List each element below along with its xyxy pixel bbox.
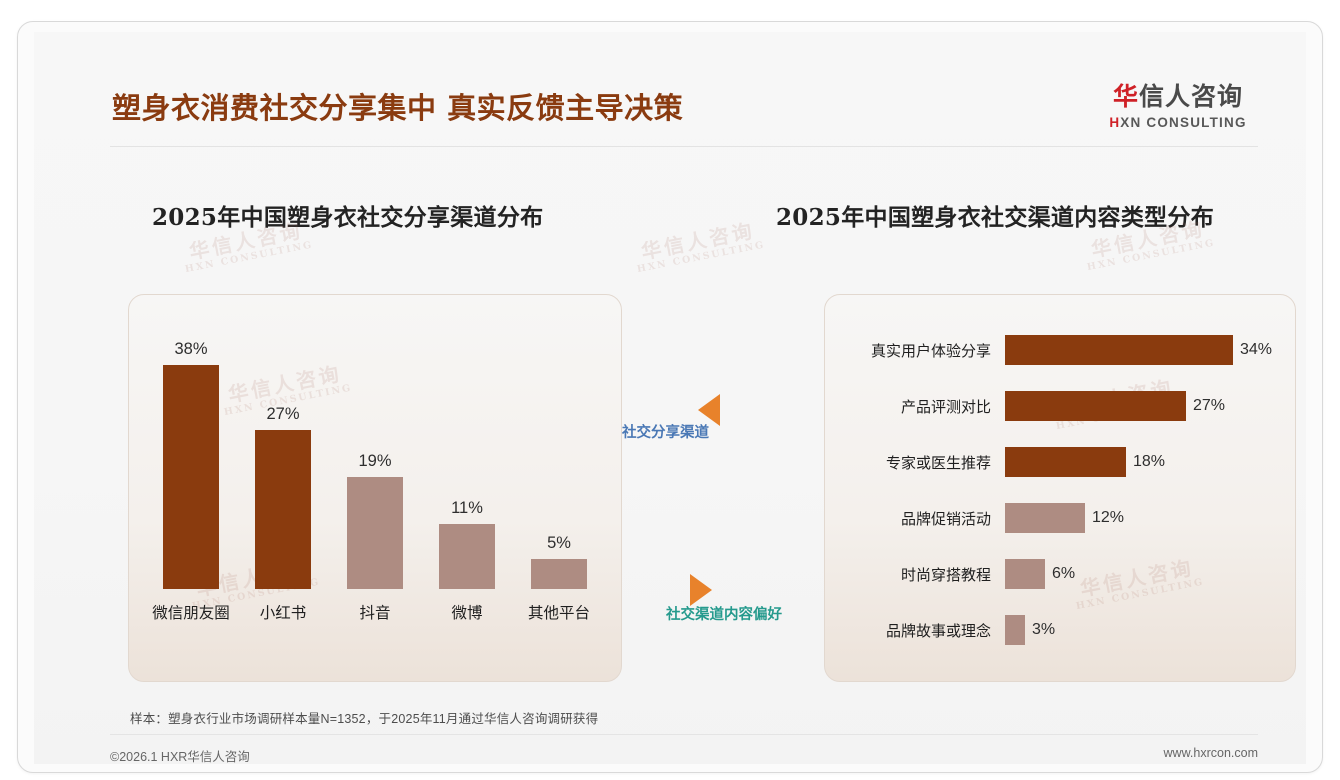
bar-value-label: 5% [547,535,571,552]
logo-chinese-text: 华信人咨询 [1098,84,1258,109]
triangle-left-icon [698,394,720,426]
bar-value-label: 18% [1133,453,1165,471]
bar-track: 34% [1005,333,1285,367]
chart-card-right: 华信人咨询 HXN CONSULTING 华信人咨询 HXN CONSULTIN… [824,294,1296,682]
bar-column: 38% [163,341,219,590]
bar-rect [531,559,587,589]
logo-cn-accent-char: 华 [1113,82,1139,111]
slide-header: 塑身衣消费社交分享集中 真实反馈主导决策 华信人咨询 HXN CONSULTIN… [34,32,1306,148]
bar-column: 19% [347,453,403,590]
bar-category-label: 专家或医生推荐 [847,452,1005,473]
bar-track: 3% [1005,613,1285,647]
bar-row: 时尚穿搭教程6% [847,557,1285,591]
bar-value-label: 27% [1193,397,1225,415]
bar-value-label: 34% [1240,341,1272,359]
logo-english-text: HXN CONSULTING [1098,116,1258,130]
bar-rect [1005,335,1233,365]
triangle-right-icon [690,574,712,606]
bar-category-label: 抖音 [325,601,425,623]
annotation-bottom-label: 社交渠道内容偏好 [666,608,782,623]
annotation-top-label: 社交分享渠道 [622,426,709,441]
bar-category-label: 产品评测对比 [847,396,1005,417]
company-logo: 华信人咨询 HXN CONSULTING [1098,84,1258,130]
bar-track: 18% [1005,445,1285,479]
bar-column: 11% [439,500,495,590]
bar-rect [1005,615,1025,645]
chart-card-left: 华信人咨询 HXN CONSULTING 华信人咨询 HXN CONSULTIN… [128,294,622,682]
horizontal-bar-chart: 真实用户体验分享34%产品评测对比27%专家或医生推荐18%品牌促销活动12%时… [825,295,1295,681]
bar-category-label: 品牌促销活动 [847,508,1005,529]
footer-divider [110,734,1258,735]
chart-title-right: 2025年中国塑身衣社交渠道内容类型分布 [776,198,1214,232]
header-divider [110,146,1258,147]
bar-track: 12% [1005,501,1285,535]
bar-column: 5% [531,535,587,590]
website-link[interactable]: www.hxrcon.com [1164,746,1258,760]
bar-rect [1005,559,1045,589]
bar-rect [1005,447,1126,477]
bar-rect [255,430,311,589]
bar-category-label: 微博 [417,601,517,623]
slide-canvas: 塑身衣消费社交分享集中 真实反馈主导决策 华信人咨询 HXN CONSULTIN… [34,32,1306,764]
bar-value-label: 3% [1032,621,1055,639]
page-title: 塑身衣消费社交分享集中 真实反馈主导决策 [112,94,683,123]
source-note: 样本：塑身衣行业市场调研样本量N=1352，于2025年11月通过华信人咨询调研… [130,708,598,727]
bar-value-label: 6% [1052,565,1075,583]
logo-en-rest: XN CONSULTING [1120,115,1246,130]
logo-cn-rest: 信人咨询 [1139,82,1243,111]
chart-title-left: 2025年中国塑身衣社交分享渠道分布 [152,198,543,232]
bar-row: 产品评测对比27% [847,389,1285,423]
logo-en-accent-char: H [1109,115,1120,130]
bar-rect [1005,503,1085,533]
bar-track: 6% [1005,557,1285,591]
bar-row: 专家或医生推荐18% [847,445,1285,479]
bar-rect [439,524,495,589]
bar-rect [347,477,403,589]
watermark: 华信人咨询 HXN CONSULTING [632,218,766,276]
slide-frame: 塑身衣消费社交分享集中 真实反馈主导决策 华信人咨询 HXN CONSULTIN… [17,21,1323,773]
copyright-text: ©2026.1 HXR华信人咨询 [110,746,250,765]
bar-row: 品牌故事或理念3% [847,613,1285,647]
bar-value-label: 27% [266,406,299,423]
bar-rect [1005,391,1186,421]
bar-category-label: 时尚穿搭教程 [847,564,1005,585]
vertical-bar-chart: 38%微信朋友圈27%小红书19%抖音11%微博5%其他平台 [129,295,621,681]
bar-value-label: 19% [358,453,391,470]
bar-category-label: 微信朋友圈 [141,601,241,623]
bar-row: 品牌促销活动12% [847,501,1285,535]
bar-value-label: 38% [174,341,207,358]
bar-category-label: 真实用户体验分享 [847,340,1005,361]
bar-row: 真实用户体验分享34% [847,333,1285,367]
bar-category-label: 小红书 [233,601,333,623]
bar-value-label: 11% [451,500,483,517]
bar-rect [163,365,219,589]
bar-category-label: 其他平台 [509,601,609,623]
bar-category-label: 品牌故事或理念 [847,620,1005,641]
bar-track: 27% [1005,389,1285,423]
bar-column: 27% [255,406,311,590]
bar-value-label: 12% [1092,509,1124,527]
